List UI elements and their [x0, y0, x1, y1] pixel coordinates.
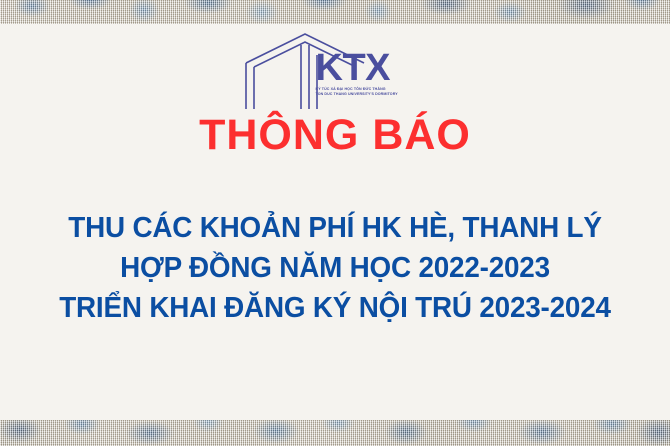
logo-wordmark: KTX [316, 49, 428, 87]
bottom-floral-pattern [0, 420, 670, 446]
logo-text-group: KTX KÝ TÚC XÁ ĐẠI HỌC TÔN ĐỨC THẮNG TON … [316, 49, 428, 96]
announcement-line-3: TRIỂN KHAI ĐĂNG KÝ NỘI TRÚ 2023-2024 [13, 288, 656, 328]
top-floral-pattern [0, 0, 670, 24]
logo-area: KTX KÝ TÚC XÁ ĐẠI HỌC TÔN ĐỨC THẮNG TON … [0, 30, 670, 110]
announcement-body: THU CÁC KHOẢN PHÍ HK HÈ, THANH LÝ HỢP ĐỒ… [0, 208, 670, 328]
headline-thong-bao: THÔNG BÁO [0, 110, 670, 160]
announcement-line-1: THU CÁC KHOẢN PHÍ HK HÈ, THANH LÝ [13, 208, 656, 248]
bottom-floral-band [0, 420, 670, 446]
ktx-logo: KTX KÝ TÚC XÁ ĐẠI HỌC TÔN ĐỨC THẮNG TON … [243, 31, 428, 109]
logo-tagline-en: TON DUC THANG UNIVERSITY'S DORMITORY [316, 92, 428, 97]
announcement-poster: KTX KÝ TÚC XÁ ĐẠI HỌC TÔN ĐỨC THẮNG TON … [0, 0, 670, 446]
top-floral-band [0, 0, 670, 24]
announcement-line-2: HỢP ĐỒNG NĂM HỌC 2022-2023 [13, 248, 656, 288]
